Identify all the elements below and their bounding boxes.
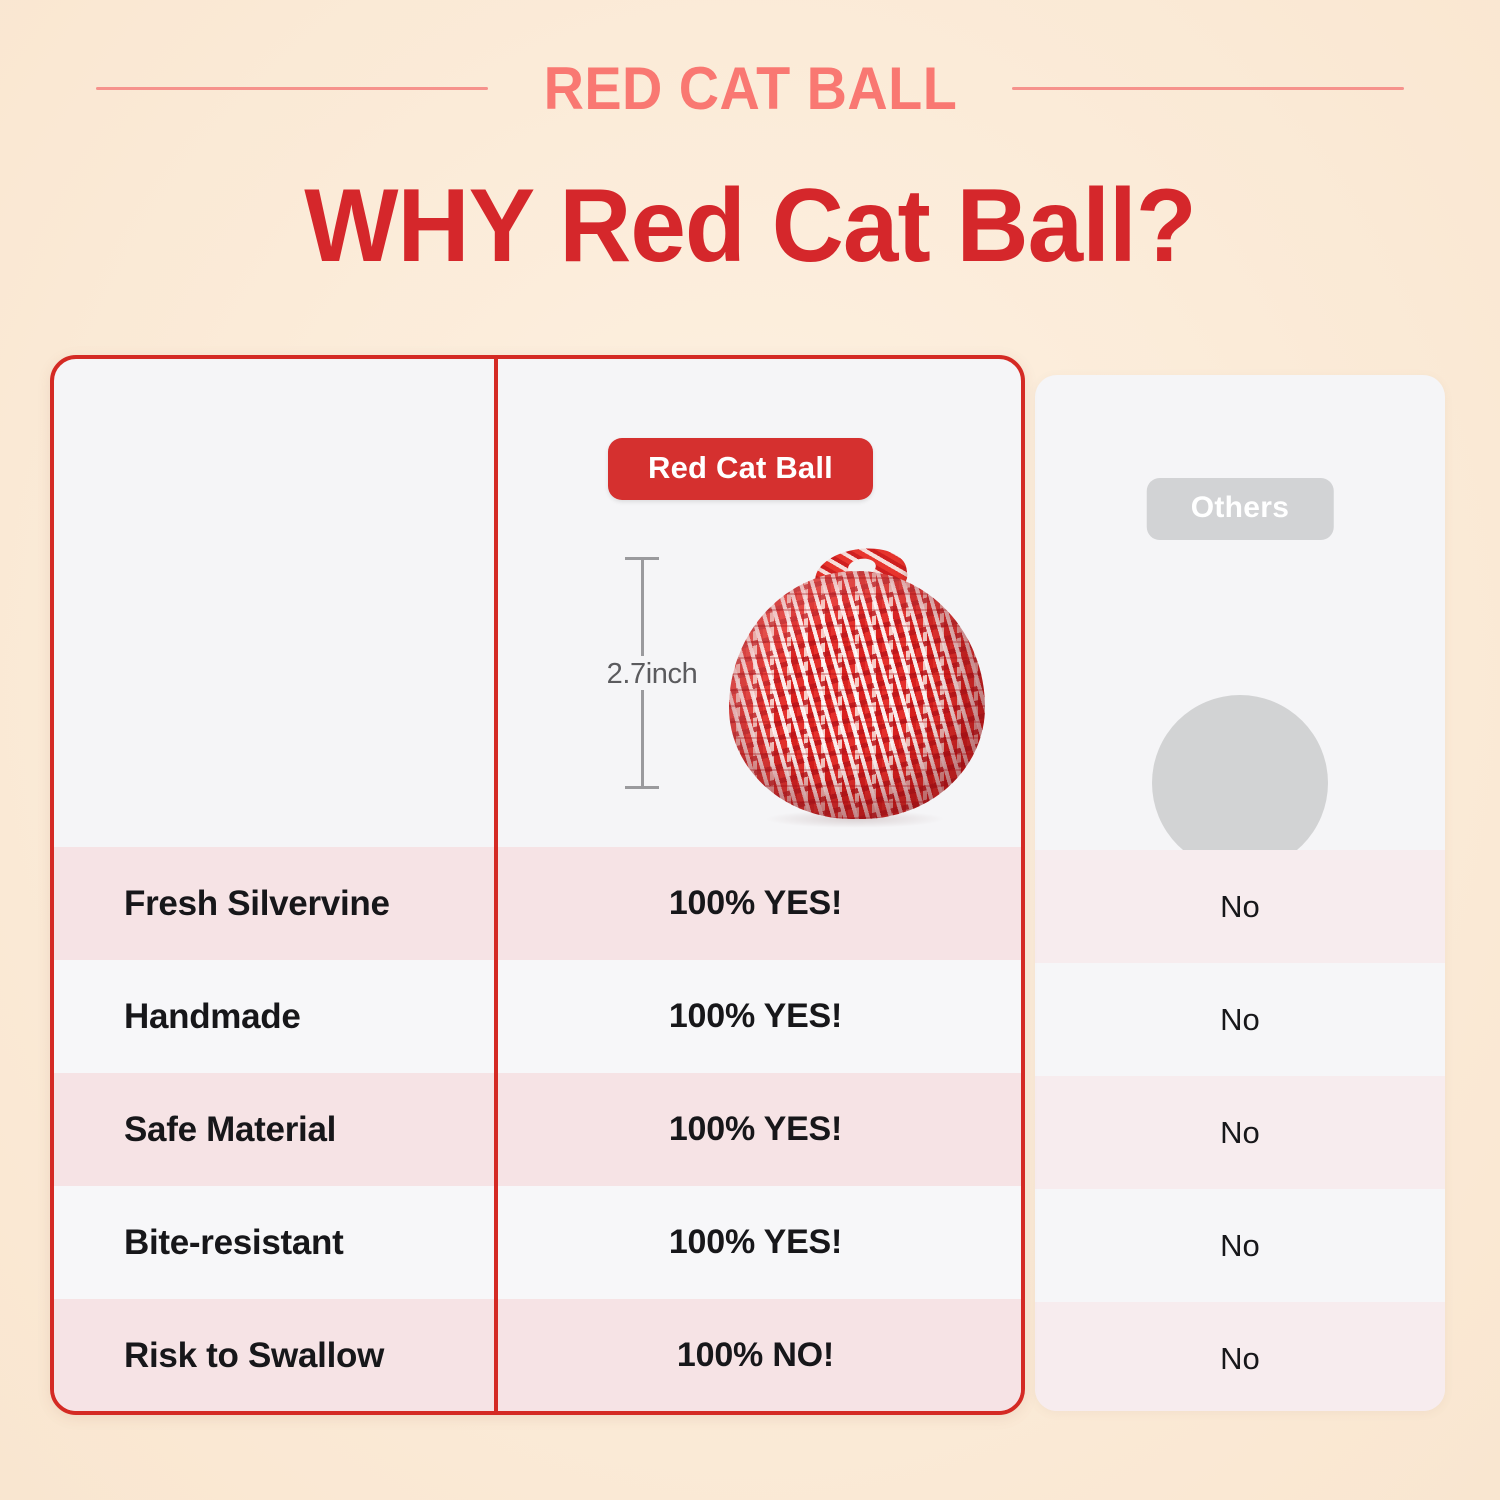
product-header: Red Cat Ball 2.7inch: [54, 359, 1021, 847]
others-header: Others: [1035, 375, 1445, 850]
product-value: 100% NO!: [490, 1336, 1021, 1375]
others-cell: No: [1035, 850, 1445, 963]
feature-label: Handmade: [54, 997, 490, 1037]
others-cell: No: [1035, 1302, 1445, 1411]
feature-rows: Fresh Silvervine 100% YES! Handmade 100%…: [54, 847, 1021, 1412]
product-badge: Red Cat Ball: [608, 438, 873, 500]
table-row: Risk to Swallow 100% NO!: [54, 1299, 1021, 1412]
product-value: 100% YES!: [490, 997, 1021, 1036]
others-cell: No: [1035, 963, 1445, 1076]
table-row: Safe Material 100% YES!: [54, 1073, 1021, 1186]
others-badge: Others: [1147, 478, 1334, 540]
product-comparison-card: Red Cat Ball 2.7inch Fresh Silvervine: [50, 355, 1025, 1415]
crochet-ball-icon: [729, 571, 985, 819]
others-cell: No: [1035, 1189, 1445, 1302]
product-value: 100% YES!: [490, 1110, 1021, 1149]
gray-circle-placeholder-icon: [1152, 695, 1328, 871]
others-cell: No: [1035, 1076, 1445, 1189]
dimension-line-upper-icon: [641, 559, 644, 656]
table-row: Fresh Silvervine 100% YES!: [54, 847, 1021, 960]
product-image: [707, 549, 1007, 824]
table-row: Bite-resistant 100% YES!: [54, 1186, 1021, 1299]
feature-label: Risk to Swallow: [54, 1336, 490, 1376]
feature-label: Bite-resistant: [54, 1223, 490, 1263]
product-value: 100% YES!: [490, 884, 1021, 923]
comparison-table: Others No No No No No Red Cat Ball 2.7in…: [0, 0, 1500, 1500]
column-divider: [494, 359, 498, 1411]
others-column-card: Others No No No No No: [1035, 375, 1445, 1411]
infographic-page: RED CAT BALL WHY Red Cat Ball? Others No…: [0, 0, 1500, 1500]
feature-label: Safe Material: [54, 1110, 490, 1150]
table-row: Handmade 100% YES!: [54, 960, 1021, 1073]
dimension-cap-bottom-icon: [625, 786, 659, 789]
product-value: 100% YES!: [490, 1223, 1021, 1262]
others-values: No No No No No: [1035, 850, 1445, 1411]
feature-label: Fresh Silvervine: [54, 884, 490, 924]
dimension-line-lower-icon: [641, 690, 644, 787]
